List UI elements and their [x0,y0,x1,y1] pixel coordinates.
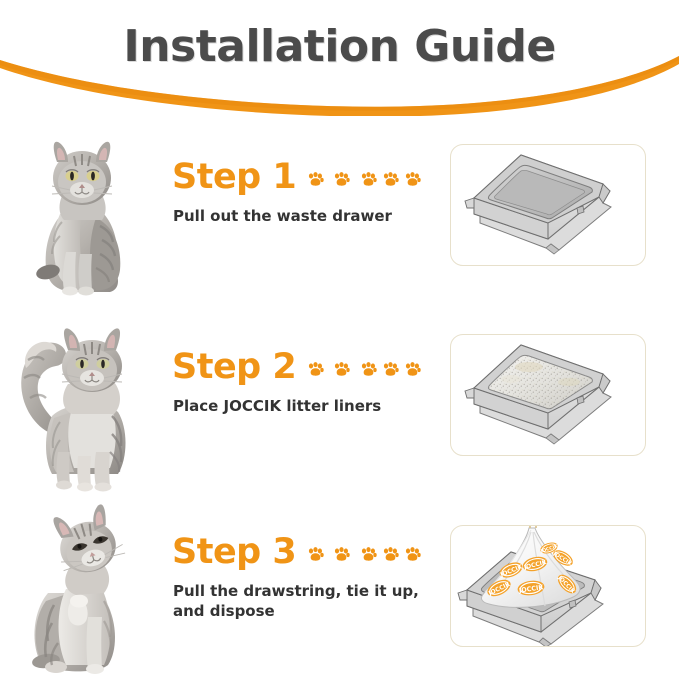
paw-print-icon [360,546,377,563]
step-2-heading: Step 2 [172,346,421,388]
header: Installation Guide [0,0,679,122]
step-2-label: Step 2 [172,349,296,385]
step-2-product-image-panel [450,334,646,456]
step-1-description: Pull out the waste drawer [173,206,445,226]
step-3-label: Step 3 [172,534,296,570]
paw-print-icon [360,361,377,378]
step-1-text-block: Step 1 Pull out the waste drawer [172,122,448,302]
sitting-gray-tabby-cat-icon [0,122,172,302]
step-1-label: Step 1 [172,159,296,195]
step-2-paw-rating [307,361,421,378]
paw-print-icon [333,171,350,188]
paw-print-icon [307,546,324,563]
litter-box-tray-with-drawstring-liner-icon: JOCCIK JOCCIK JOCCIK [451,526,645,647]
step-1-product-image-panel [450,144,646,266]
step-row-1: Step 1 Pull out the waste drawer [0,122,679,302]
step-3-text-block: Step 3 Pull the drawstring, tie it up, a… [172,497,448,677]
litter-box-tray-with-litter-icon [451,335,645,456]
step-3-product-image-panel: JOCCIK JOCCIK JOCCIK [450,525,646,647]
step-2-description: Place JOCCIK litter liners [173,396,445,416]
paw-print-icon [307,171,324,188]
paw-print-icon [333,546,350,563]
step-row-2: Step 2 Place JOCCIK litter liners [0,312,679,492]
litter-box-tray-empty-icon [451,145,645,266]
step-1-paw-rating [307,171,421,188]
step-3-paw-rating [307,546,421,563]
kitten-looking-up-paw-raised-icon [0,497,172,677]
paw-print-icon [404,171,421,188]
paw-print-icon [404,546,421,563]
orange-swoosh-icon [0,54,679,116]
step-3-description: Pull the drawstring, tie it up, and disp… [173,581,445,621]
paw-print-icon [307,361,324,378]
step-3-description-line-2: and dispose [173,601,445,621]
paw-print-icon [382,546,399,563]
paw-print-icon [404,361,421,378]
step-2-text-block: Step 2 Place JOCCIK litter liners [172,312,448,492]
paw-print-icon [360,171,377,188]
step-3-description-line-1: Pull the drawstring, tie it up, [173,581,445,601]
paw-print-icon [382,361,399,378]
standing-longhair-tabby-cat-icon [0,312,172,492]
paw-print-icon [333,361,350,378]
paw-print-icon [382,171,399,188]
step-row-3: Step 3 Pull the drawstring, tie it up, a… [0,497,679,677]
step-3-heading: Step 3 [172,531,421,573]
step-1-heading: Step 1 [172,156,421,198]
